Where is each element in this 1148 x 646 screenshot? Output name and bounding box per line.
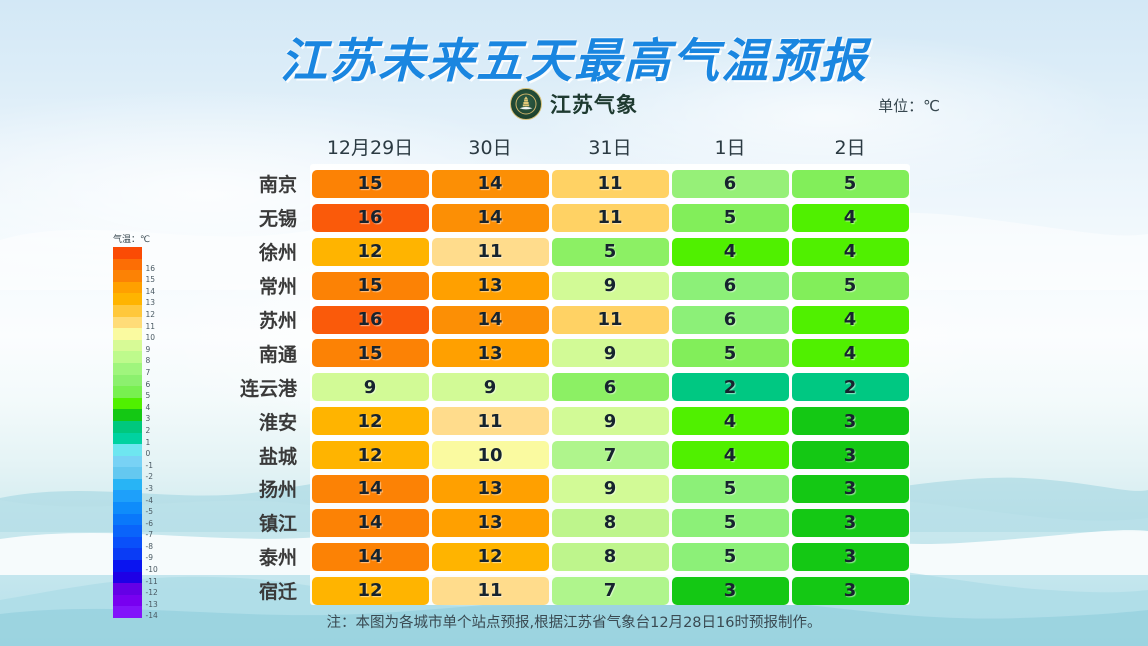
city-label: 无锡 [195,204,310,231]
legend-stop: 8 [113,351,175,363]
temperature-cell: 3 [792,509,909,537]
column-header-2: 31日 [550,133,670,160]
legend-stop: 13 [113,293,175,305]
cell-slot: 5 [790,170,910,198]
legend-stops: 161514131211109876543210-1-2-3-4-5-6-7-8… [113,247,175,618]
row-cells: 1211733 [310,577,910,605]
table-row: 南通1513954 [195,336,910,370]
unit-label: 单位：℃ [878,95,940,116]
cell-slot: 8 [550,543,670,571]
legend-swatch [113,560,142,572]
legend-value-label: 3 [146,415,151,423]
cell-slot: 14 [310,509,430,537]
temperature-cell: 12 [312,577,429,605]
legend-value-label: 1 [146,439,151,447]
cell-slot: 11 [550,306,670,334]
temperature-cell: 6 [672,170,789,198]
cell-slot: 5 [670,543,790,571]
cell-slot: 3 [790,577,910,605]
temperature-cell: 2 [672,373,789,401]
legend-stop: -9 [113,548,175,560]
legend-swatch [113,583,142,595]
temperature-cell: 11 [432,577,549,605]
temperature-cell: 11 [552,306,669,334]
city-label: 宿迁 [195,577,310,604]
legend-swatch [113,363,142,375]
cell-slot: 4 [790,204,910,232]
temperature-cell: 5 [792,272,909,300]
jiangsu-meteorology-emblem-icon [510,88,542,120]
legend-stop: -1 [113,456,175,468]
city-label: 南京 [195,170,310,197]
legend-swatch [113,467,142,479]
cell-slot: 13 [430,272,550,300]
temperature-cell: 14 [432,170,549,198]
cell-slot: 3 [790,475,910,503]
legend-stop: 1 [113,433,175,445]
legend-stop: -10 [113,560,175,572]
temperature-cell: 13 [432,475,549,503]
legend-stop: -8 [113,537,175,549]
legend-stop: 4 [113,398,175,410]
city-label: 镇江 [195,509,310,536]
table-row: 徐州1211544 [195,235,910,269]
temperature-cell: 13 [432,272,549,300]
temperature-cell: 3 [672,577,789,605]
legend-swatch [113,548,142,560]
legend-swatch [113,444,142,456]
cell-slot: 4 [670,441,790,469]
row-cells: 1413953 [310,475,910,503]
city-label: 常州 [195,272,310,299]
temperature-cell: 2 [792,373,909,401]
legend-value-label: 9 [146,346,151,354]
legend-stop: -5 [113,502,175,514]
legend-value-label: 12 [146,311,156,319]
legend-value-label: -9 [146,554,153,562]
legend-value-label: 7 [146,369,151,377]
legend-swatch [113,595,142,607]
legend-stop: 7 [113,363,175,375]
legend-swatch [113,537,142,549]
legend-value-label: 13 [146,299,156,307]
temperature-cell: 3 [792,441,909,469]
row-cells: 1413853 [310,509,910,537]
temperature-cell: 11 [432,238,549,266]
cell-slot: 14 [430,204,550,232]
legend-stop: 9 [113,340,175,352]
column-header-3: 1日 [670,133,790,160]
cell-slot: 9 [550,475,670,503]
cell-slot: 12 [310,577,430,605]
cell-slot: 3 [670,577,790,605]
cell-slot: 13 [430,509,550,537]
legend-stop: 12 [113,305,175,317]
cell-slot: 7 [550,441,670,469]
table-body: 南京15141165无锡16141154徐州1211544常州1513965苏州… [195,167,910,608]
legend-swatch [113,525,142,537]
temperature-cell: 3 [792,407,909,435]
cell-slot: 11 [550,170,670,198]
legend-value-label: 5 [146,392,151,400]
legend-stop: 15 [113,270,175,282]
temperature-cell: 7 [552,577,669,605]
legend-stop: -6 [113,514,175,526]
legend-swatch [113,270,142,282]
legend-swatch [113,282,142,294]
cell-slot: 14 [310,543,430,571]
row-cells: 1210743 [310,441,910,469]
temperature-cell: 9 [312,373,429,401]
column-header-1: 30日 [430,133,550,160]
legend-stop: 10 [113,328,175,340]
table-row: 泰州1412853 [195,540,910,574]
legend-stop: 0 [113,444,175,456]
row-cells: 1412853 [310,543,910,571]
legend-swatch [113,502,142,514]
legend-swatch [113,433,142,445]
city-label: 徐州 [195,238,310,265]
temperature-cell: 4 [672,407,789,435]
legend-swatch [113,305,142,317]
city-label: 南通 [195,340,310,367]
org-name: 江苏气象 [550,89,638,119]
table-row: 常州1513965 [195,269,910,303]
cell-slot: 14 [310,475,430,503]
cell-slot: 14 [430,170,550,198]
temperature-cell: 14 [312,509,429,537]
temperature-cell: 12 [312,238,429,266]
legend-stop [113,247,175,259]
cell-slot: 15 [310,170,430,198]
legend-stop: 11 [113,317,175,329]
cell-slot: 11 [430,238,550,266]
temperature-cell: 14 [312,543,429,571]
temperature-cell: 5 [672,339,789,367]
legend-value-label: 2 [146,427,151,435]
cell-slot: 12 [310,407,430,435]
footer-note: 注：本图为各城市单个站点预报,根据江苏省气象台12月28日16时预报制作。 [0,611,1148,632]
legend-swatch [113,293,142,305]
legend-value-label: -10 [146,566,158,574]
legend-swatch [113,386,142,398]
row-cells: 15141165 [310,170,910,198]
row-cells: 99622 [310,373,910,401]
temperature-cell: 6 [672,306,789,334]
temperature-cell: 16 [312,306,429,334]
temperature-cell: 15 [312,170,429,198]
legend-value-label: -5 [146,508,153,516]
temperature-cell: 14 [312,475,429,503]
legend-value-label: 16 [146,265,156,273]
legend-value-label: -1 [146,462,153,470]
cell-slot: 6 [670,272,790,300]
temperature-cell: 4 [672,238,789,266]
table-row: 苏州16141164 [195,303,910,337]
row-cells: 1513954 [310,339,910,367]
cell-slot: 9 [430,373,550,401]
temperature-cell: 10 [432,441,549,469]
cell-slot: 16 [310,204,430,232]
row-cells: 1513965 [310,272,910,300]
city-label: 淮安 [195,408,310,435]
cell-slot: 4 [790,238,910,266]
org-logo-row: 江苏气象 [0,88,1148,120]
cell-slot: 3 [790,543,910,571]
table-row: 镇江1413853 [195,506,910,540]
cell-slot: 3 [790,509,910,537]
legend-value-label: 6 [146,381,151,389]
legend-value-label: -2 [146,473,153,481]
legend-value-label: 11 [146,323,156,331]
cell-slot: 14 [430,306,550,334]
city-label: 苏州 [195,306,310,333]
cell-slot: 4 [670,238,790,266]
table-row: 连云港99622 [195,370,910,404]
cell-slot: 6 [550,373,670,401]
legend-swatch [113,340,142,352]
cell-slot: 9 [550,339,670,367]
legend-stop: -12 [113,583,175,595]
legend-swatch [113,514,142,526]
legend-swatch [113,572,142,584]
temperature-cell: 9 [552,339,669,367]
cell-slot: 13 [430,475,550,503]
legend-value-label: 10 [146,334,156,342]
cell-slot: 13 [430,339,550,367]
legend-swatch [113,328,142,340]
temperature-cell: 12 [312,407,429,435]
column-header-4: 2日 [790,133,910,160]
legend-value-label: -4 [146,497,153,505]
temperature-cell: 4 [792,306,909,334]
cell-slot: 5 [670,339,790,367]
legend-swatch [113,409,142,421]
table-row: 无锡16141154 [195,201,910,235]
cell-slot: 15 [310,272,430,300]
temperature-cell: 3 [792,543,909,571]
cell-slot: 3 [790,441,910,469]
temperature-cell: 5 [672,475,789,503]
temperature-cell: 16 [312,204,429,232]
legend-value-label: -8 [146,543,153,551]
temperature-cell: 8 [552,543,669,571]
cell-slot: 2 [670,373,790,401]
cell-slot: 4 [790,306,910,334]
temperature-cell: 4 [792,204,909,232]
cell-slot: 11 [550,204,670,232]
legend-stop: 16 [113,259,175,271]
cell-slot: 8 [550,509,670,537]
cell-slot: 4 [670,407,790,435]
temperature-cell: 4 [792,339,909,367]
legend-swatch [113,317,142,329]
city-label: 扬州 [195,475,310,502]
temperature-cell: 6 [672,272,789,300]
legend-value-label: -12 [146,589,158,597]
legend-swatch [113,456,142,468]
temperature-cell: 13 [432,509,549,537]
table-column-headers: 12月29日30日31日1日2日 [310,133,910,160]
cell-slot: 5 [550,238,670,266]
temperature-cell: 9 [552,407,669,435]
cell-slot: 16 [310,306,430,334]
cell-slot: 5 [790,272,910,300]
city-label: 连云港 [195,374,310,401]
temperature-cell: 3 [792,475,909,503]
legend-swatch [113,247,142,259]
cell-slot: 6 [670,170,790,198]
legend-stop: -7 [113,525,175,537]
legend-swatch [113,351,142,363]
table-row: 扬州1413953 [195,472,910,506]
temperature-cell: 5 [672,509,789,537]
temperature-cell: 13 [432,339,549,367]
temperature-cell: 14 [432,204,549,232]
legend-value-label: -11 [146,578,158,586]
cell-slot: 15 [310,339,430,367]
temperature-cell: 15 [312,272,429,300]
row-cells: 16141154 [310,204,910,232]
cell-slot: 11 [430,407,550,435]
legend-stop: 2 [113,421,175,433]
temperature-cell: 12 [312,441,429,469]
temperature-cell: 5 [792,170,909,198]
cell-slot: 3 [790,407,910,435]
temperature-color-legend: 气温：℃ 161514131211109876543210-1-2-3-4-5-… [113,232,175,618]
temperature-cell: 14 [432,306,549,334]
temperature-cell: 15 [312,339,429,367]
legend-stop: 14 [113,282,175,294]
temperature-cell: 4 [672,441,789,469]
legend-swatch [113,259,142,271]
cell-slot: 7 [550,577,670,605]
cell-slot: 2 [790,373,910,401]
cell-slot: 11 [430,577,550,605]
temperature-cell: 11 [432,407,549,435]
city-label: 盐城 [195,442,310,469]
legend-value-label: 14 [146,288,156,296]
temperature-cell: 5 [552,238,669,266]
temperature-cell: 12 [432,543,549,571]
legend-value-label: -6 [146,520,153,528]
cell-slot: 9 [310,373,430,401]
temperature-cell: 9 [432,373,549,401]
cell-slot: 5 [670,509,790,537]
table-row: 宿迁1211733 [195,574,910,608]
temperature-cell: 7 [552,441,669,469]
legend-stop: -13 [113,595,175,607]
cell-slot: 12 [430,543,550,571]
temperature-cell: 11 [552,204,669,232]
table-row: 盐城1210743 [195,438,910,472]
legend-stop: -11 [113,572,175,584]
legend-value-label: -7 [146,531,153,539]
temperature-cell: 5 [672,543,789,571]
cell-slot: 6 [670,306,790,334]
city-label: 泰州 [195,543,310,570]
temperature-cell: 5 [672,204,789,232]
temperature-cell: 3 [792,577,909,605]
cell-slot: 9 [550,272,670,300]
column-header-0: 12月29日 [310,133,430,160]
row-cells: 1211544 [310,238,910,266]
legend-title: 气温：℃ [113,232,175,245]
legend-swatch [113,375,142,387]
legend-value-label: 15 [146,276,156,284]
legend-stop: -4 [113,490,175,502]
cell-slot: 9 [550,407,670,435]
temperature-cell: 6 [552,373,669,401]
temperature-cell: 9 [552,272,669,300]
legend-stop: 3 [113,409,175,421]
page-title: 江苏未来五天最高气温预报 [0,22,1148,91]
cell-slot: 10 [430,441,550,469]
legend-stop: -3 [113,479,175,491]
cell-slot: 5 [670,475,790,503]
legend-stop: -2 [113,467,175,479]
row-cells: 1211943 [310,407,910,435]
legend-stop: 6 [113,375,175,387]
table-row: 南京15141165 [195,167,910,201]
legend-swatch [113,479,142,491]
cell-slot: 4 [790,339,910,367]
legend-value-label: 4 [146,404,151,412]
legend-value-label: -13 [146,601,158,609]
legend-value-label: 0 [146,450,151,458]
cell-slot: 12 [310,238,430,266]
temperature-cell: 8 [552,509,669,537]
cell-slot: 5 [670,204,790,232]
legend-swatch [113,490,142,502]
row-cells: 16141164 [310,306,910,334]
temperature-cell: 11 [552,170,669,198]
forecast-table: 12月29日30日31日1日2日 南京15141165无锡16141154徐州1… [195,133,910,608]
legend-swatch [113,398,142,410]
temperature-cell: 4 [792,238,909,266]
temperature-cell: 9 [552,475,669,503]
cell-slot: 12 [310,441,430,469]
legend-stop: 5 [113,386,175,398]
legend-value-label: 8 [146,357,151,365]
table-row: 淮安1211943 [195,404,910,438]
legend-value-label: -3 [146,485,153,493]
legend-swatch [113,421,142,433]
